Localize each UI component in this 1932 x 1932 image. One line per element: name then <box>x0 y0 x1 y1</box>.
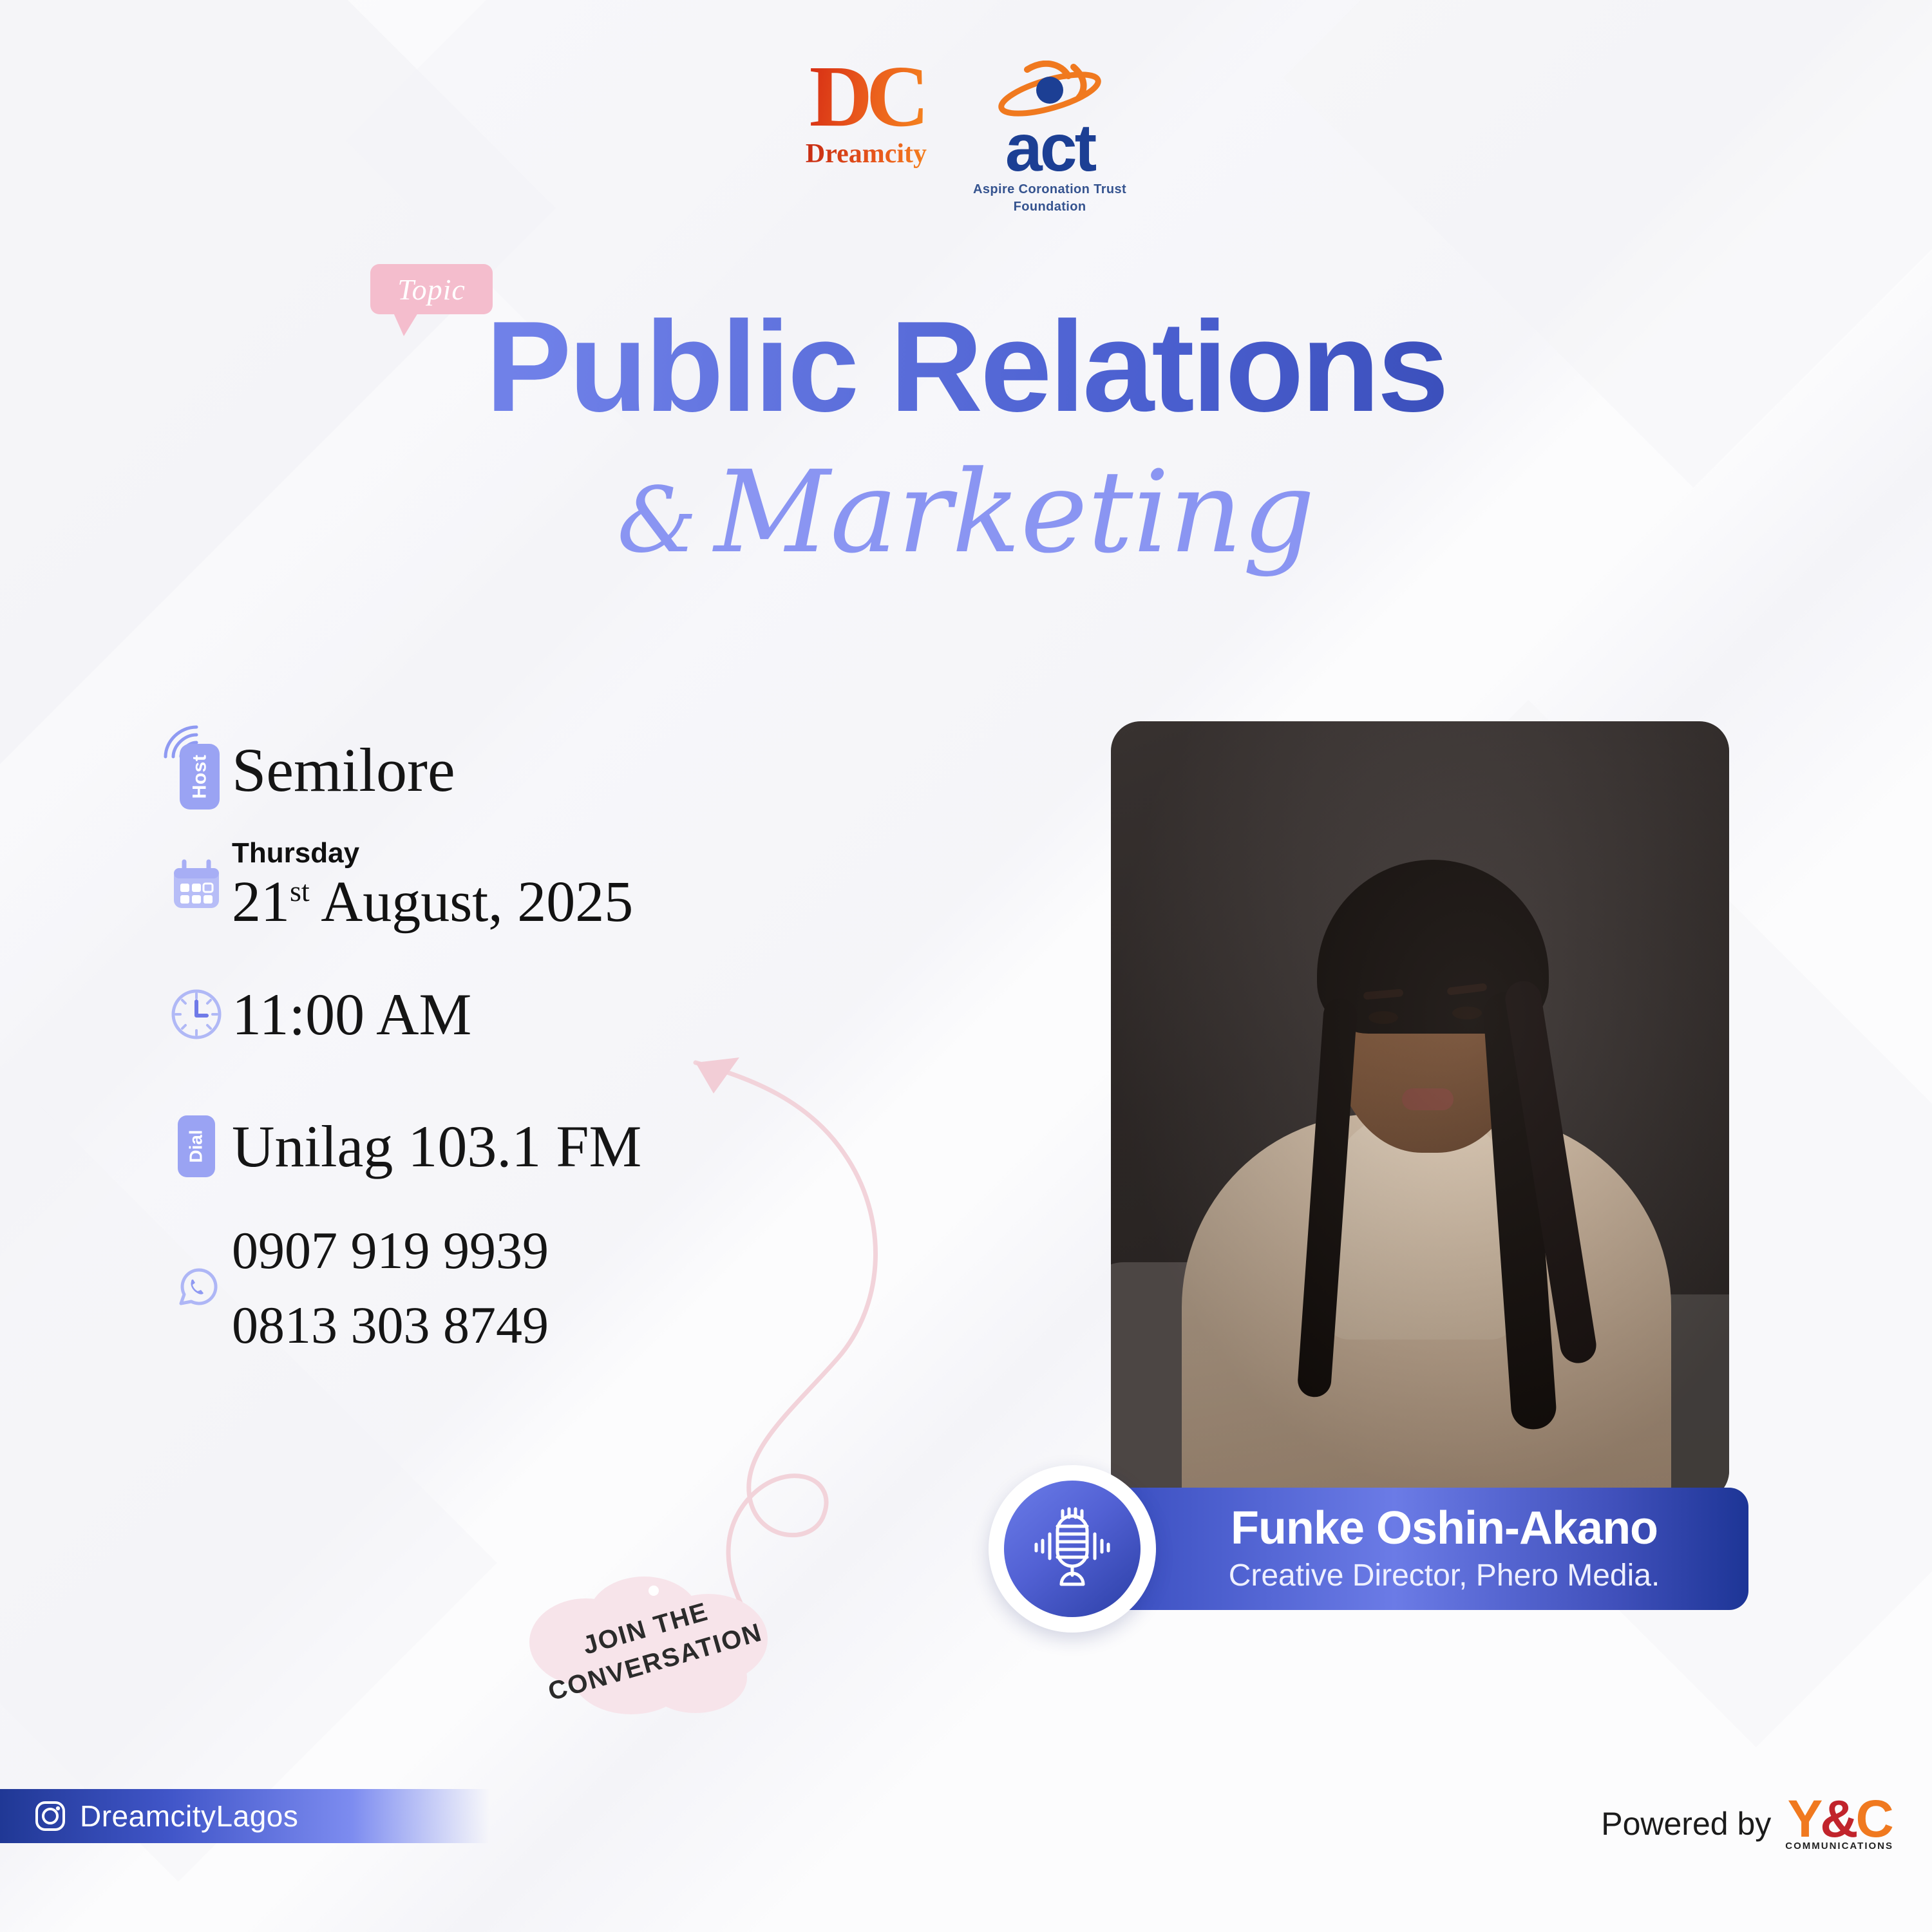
dreamcity-logo: DC Dreamcity <box>806 57 927 169</box>
instagram-icon <box>33 1799 67 1833</box>
page-title: Public Relations <box>0 303 1932 431</box>
whatsapp-number-2: 0813 303 8749 <box>232 1288 549 1363</box>
time-value: 11:00 AM <box>232 980 471 1048</box>
dreamcity-monogram-icon: DC <box>810 57 923 137</box>
poster-canvas: DC Dreamcity act Aspire Coronation Trust… <box>0 0 1932 1932</box>
detail-row-date: Thursday 21st August, 2025 <box>161 821 902 950</box>
date-day-number: 21 <box>232 870 290 934</box>
host-tag-label: Host <box>189 755 211 799</box>
act-tagline: Aspire Coronation Trust Foundation <box>973 181 1126 216</box>
dial-station: Unilag 103.1 FM <box>232 1112 641 1180</box>
instagram-handle-bar[interactable]: DreamcityLagos <box>0 1789 489 1843</box>
event-details-list: Host Semilore <box>161 718 902 1362</box>
join-conversation-badge: JOIN THE CONVERSATION <box>515 1565 786 1726</box>
microphone-circle <box>1004 1481 1141 1617</box>
clock-icon-slot <box>161 987 232 1041</box>
powered-by-label: Powered by <box>1601 1805 1771 1842</box>
yc-tagline: COMMUNICATIONS <box>1785 1841 1893 1851</box>
topic-badge-label: Topic <box>397 272 466 307</box>
detail-row-whatsapp: 0907 919 9939 0813 303 8749 <box>161 1214 902 1362</box>
yc-communications-logo: Y&C COMMUNICATIONS <box>1785 1797 1893 1851</box>
yc-letter-y: Y <box>1788 1790 1821 1848</box>
yc-letter-c: C <box>1855 1790 1891 1848</box>
calendar-icon-slot <box>161 858 232 913</box>
yc-monogram-icon: Y&C <box>1788 1797 1891 1842</box>
powered-by-block: Powered by Y&C COMMUNICATIONS <box>1601 1797 1893 1851</box>
clock-icon <box>169 987 223 1041</box>
detail-row-dial: Dial Unilag 103.1 FM <box>161 1079 902 1214</box>
date-ordinal: st <box>290 875 310 907</box>
date-block: Thursday 21st August, 2025 <box>232 837 633 934</box>
date-day-of-week: Thursday <box>232 837 633 870</box>
dial-tag-label: Dial <box>186 1130 207 1162</box>
detail-row-host: Host Semilore <box>161 718 902 821</box>
photo-vignette <box>1111 721 1729 1501</box>
whatsapp-icon <box>172 1264 221 1312</box>
date-full: 21st August, 2025 <box>232 870 633 934</box>
dial-icon-slot: Dial <box>161 1115 232 1177</box>
host-name: Semilore <box>232 734 455 806</box>
microphone-icon <box>1024 1501 1121 1597</box>
host-icon-slot: Host <box>161 730 232 810</box>
act-wordmark: act <box>1005 120 1094 177</box>
dreamcity-wordmark: Dreamcity <box>806 138 927 169</box>
host-tag-body: Host <box>180 744 220 810</box>
act-foundation-logo: act Aspire Coronation Trust Foundation <box>973 57 1126 216</box>
speaker-name: Funke Oshin-Akano <box>1231 1504 1658 1553</box>
page-subtitle: &Marketing <box>0 444 1932 580</box>
logo-row: DC Dreamcity act Aspire Coronation Trust… <box>0 57 1932 216</box>
yc-ampersand: & <box>1820 1790 1855 1848</box>
whatsapp-icon-slot <box>161 1264 232 1312</box>
act-tagline-line1: Aspire Coronation Trust <box>973 182 1126 196</box>
instagram-handle: DreamcityLagos <box>80 1799 298 1833</box>
host-tag-icon: Host <box>171 730 222 810</box>
date-month-year: August, 2025 <box>321 870 633 934</box>
dial-tag-icon: Dial <box>178 1115 215 1177</box>
whatsapp-numbers: 0907 919 9939 0813 303 8749 <box>232 1213 549 1363</box>
title-ampersand: & <box>617 468 697 573</box>
whatsapp-number-1: 0907 919 9939 <box>232 1213 549 1288</box>
title-script-word: Marketing <box>714 446 1315 578</box>
speaker-role: Creative Director, Phero Media. <box>1229 1559 1660 1593</box>
detail-row-time: 11:00 AM <box>161 950 902 1079</box>
speaker-photo <box>1111 721 1729 1501</box>
calendar-icon <box>169 858 224 913</box>
microphone-badge <box>989 1465 1156 1633</box>
act-tagline-line2: Foundation <box>1014 200 1086 214</box>
